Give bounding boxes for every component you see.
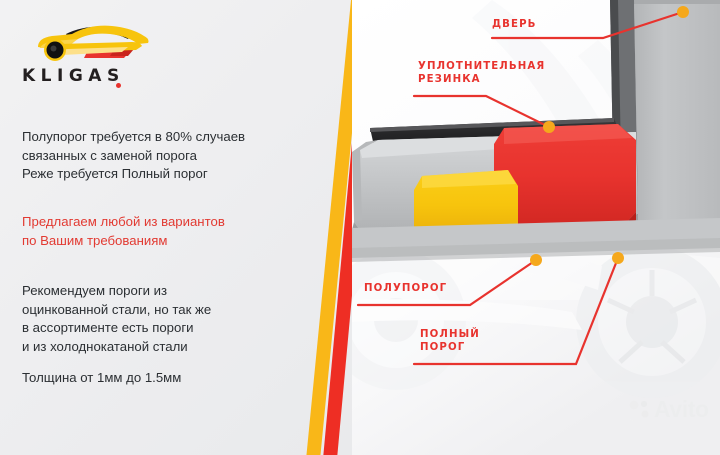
door-panel	[634, 0, 720, 233]
logo-accent-dot	[116, 83, 121, 88]
callout-label-half-sill: ПОЛУПОРОГ	[364, 282, 447, 295]
text-block-offer: Предлагаем любой из вариантов по Вашим т…	[22, 213, 225, 250]
avito-watermark: Avito	[628, 398, 709, 421]
advertisement-image: KLIGAS Полупорог требуется в 80% случаев…	[0, 0, 720, 455]
avito-wordmark: Avito	[654, 398, 709, 421]
brand-logo: KLIGAS	[22, 22, 182, 92]
left-info-panel: KLIGAS Полупорог требуется в 80% случаев…	[0, 0, 352, 455]
sports-car-logo-icon	[28, 22, 154, 64]
marker-dot-full-sill	[612, 252, 624, 264]
avito-logo-icon	[628, 399, 650, 421]
marker-dot-half-sill	[530, 254, 542, 266]
text-block-thickness: Толщина от 1мм до 1.5мм	[22, 369, 181, 388]
callout-label-door: ДВЕРЬ	[492, 18, 537, 31]
text-block-statistics: Полупорог требуется в 80% случаев связан…	[22, 128, 245, 184]
marker-dot-seal	[543, 121, 555, 133]
text-block-recommendation: Рекомендуем пороги из оцинкованной стали…	[22, 282, 211, 357]
callout-label-door-seal: УПЛОТНИТЕЛЬНАЯ РЕЗИНКА	[418, 60, 545, 86]
brand-wordmark: KLIGAS	[22, 66, 125, 86]
marker-dot-door	[677, 6, 689, 18]
callout-label-full-sill: ПОЛНЫЙ ПОРОГ	[420, 328, 480, 354]
